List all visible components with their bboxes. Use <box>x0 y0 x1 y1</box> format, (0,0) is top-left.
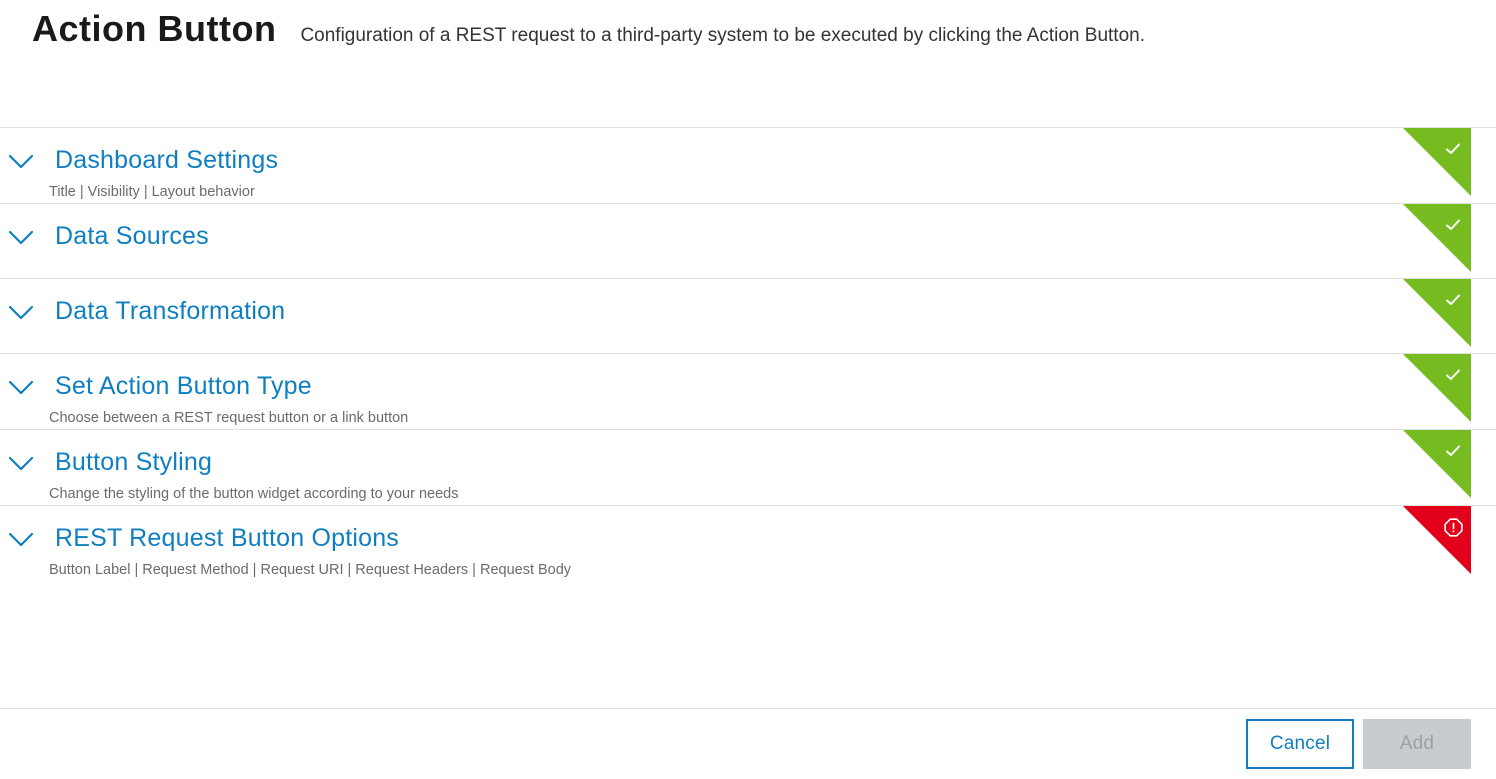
section-title: Set Action Button Type <box>55 371 408 401</box>
accordion-text-group: Data Sources <box>36 204 209 251</box>
dialog-footer: Cancel Add <box>0 708 1496 779</box>
chevron-down-icon[interactable] <box>6 128 36 170</box>
section-description: Choose between a REST request button or … <box>49 407 408 429</box>
accordion-header[interactable]: Dashboard Settings Title | Visibility | … <box>0 128 1496 203</box>
section-title: Data Transformation <box>55 296 285 326</box>
accordion-header[interactable]: Set Action Button Type Choose between a … <box>0 354 1496 429</box>
accordion-section-dashboard-settings[interactable]: Dashboard Settings Title | Visibility | … <box>0 127 1496 203</box>
section-title: Dashboard Settings <box>55 145 278 175</box>
section-title: Data Sources <box>55 221 209 251</box>
accordion-header[interactable]: Data Sources <box>0 204 1496 278</box>
chevron-down-icon[interactable] <box>6 430 36 472</box>
section-title: REST Request Button Options <box>55 523 571 553</box>
accordion-header[interactable]: Button Styling Change the styling of the… <box>0 430 1496 505</box>
accordion-text-group: Button Styling Change the styling of the… <box>36 430 459 505</box>
page-subtitle: Configuration of a REST request to a thi… <box>300 7 1145 65</box>
chevron-down-icon[interactable] <box>6 354 36 396</box>
page-header: Action Button Configuration of a REST re… <box>0 0 1496 60</box>
accordion-section-rest-request-button-options[interactable]: REST Request Button Options Button Label… <box>0 505 1496 581</box>
page-title: Action Button <box>32 0 276 58</box>
add-button[interactable]: Add <box>1363 719 1471 769</box>
accordion-section-set-action-button-type[interactable]: Set Action Button Type Choose between a … <box>0 353 1496 429</box>
section-description: Button Label | Request Method | Request … <box>49 559 571 581</box>
accordion-text-group: REST Request Button Options Button Label… <box>36 506 571 581</box>
accordion-header[interactable]: REST Request Button Options Button Label… <box>0 506 1496 581</box>
section-title: Button Styling <box>55 447 459 477</box>
chevron-down-icon[interactable] <box>6 506 36 548</box>
accordion-section-data-transformation[interactable]: Data Transformation <box>0 278 1496 353</box>
accordion-text-group: Dashboard Settings Title | Visibility | … <box>36 128 278 203</box>
chevron-down-icon[interactable] <box>6 204 36 246</box>
accordion-header[interactable]: Data Transformation <box>0 279 1496 353</box>
accordion-text-group: Set Action Button Type Choose between a … <box>36 354 408 429</box>
cancel-button[interactable]: Cancel <box>1246 719 1354 769</box>
settings-accordion: Dashboard Settings Title | Visibility | … <box>0 127 1496 581</box>
section-description: Change the styling of the button widget … <box>49 483 459 505</box>
chevron-down-icon[interactable] <box>6 279 36 321</box>
accordion-text-group: Data Transformation <box>36 279 285 326</box>
accordion-section-button-styling[interactable]: Button Styling Change the styling of the… <box>0 429 1496 505</box>
section-description: Title | Visibility | Layout behavior <box>49 181 278 203</box>
accordion-section-data-sources[interactable]: Data Sources <box>0 203 1496 278</box>
